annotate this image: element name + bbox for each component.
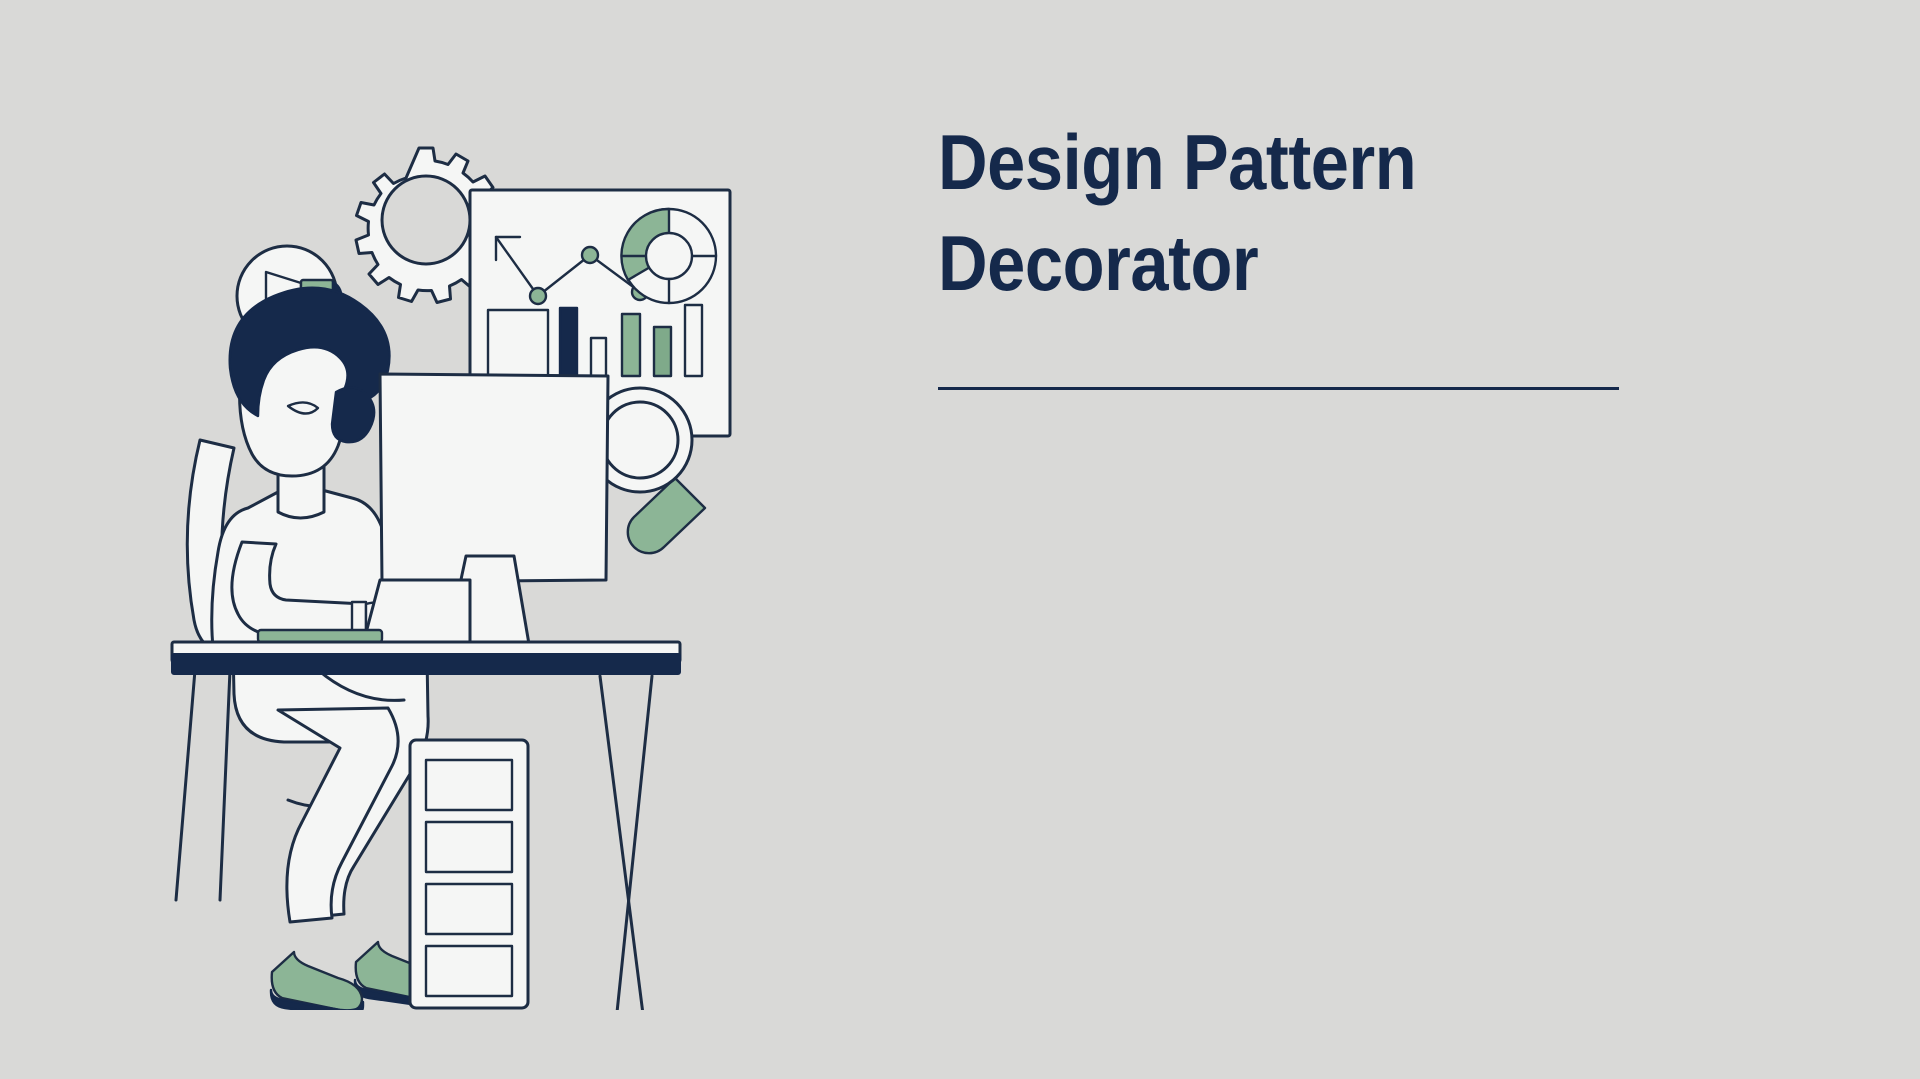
board-bar-2 xyxy=(591,338,606,376)
board-square-placeholder xyxy=(488,310,548,376)
board-bar-3 xyxy=(622,314,640,376)
board-donut-chart xyxy=(621,209,716,303)
drawer-cabinet xyxy=(410,740,528,1008)
title-divider xyxy=(938,387,1619,390)
illustration: .ln { fill:none; stroke:#1d2d44; stroke-… xyxy=(170,110,850,1010)
text-block: Design Pattern Decorator xyxy=(938,112,1638,315)
desk-front-edge xyxy=(172,654,680,674)
desktop-monitor xyxy=(362,374,608,650)
board-bar-1 xyxy=(560,308,577,376)
board-bar-4 xyxy=(654,327,671,376)
keyboard xyxy=(258,630,382,642)
page-title: Design Pattern Decorator xyxy=(938,112,1554,315)
slide-root: .ln { fill:none; stroke:#1d2d44; stroke-… xyxy=(0,0,1920,1079)
board-bar-5 xyxy=(685,305,702,376)
shoe-front xyxy=(271,952,363,1010)
